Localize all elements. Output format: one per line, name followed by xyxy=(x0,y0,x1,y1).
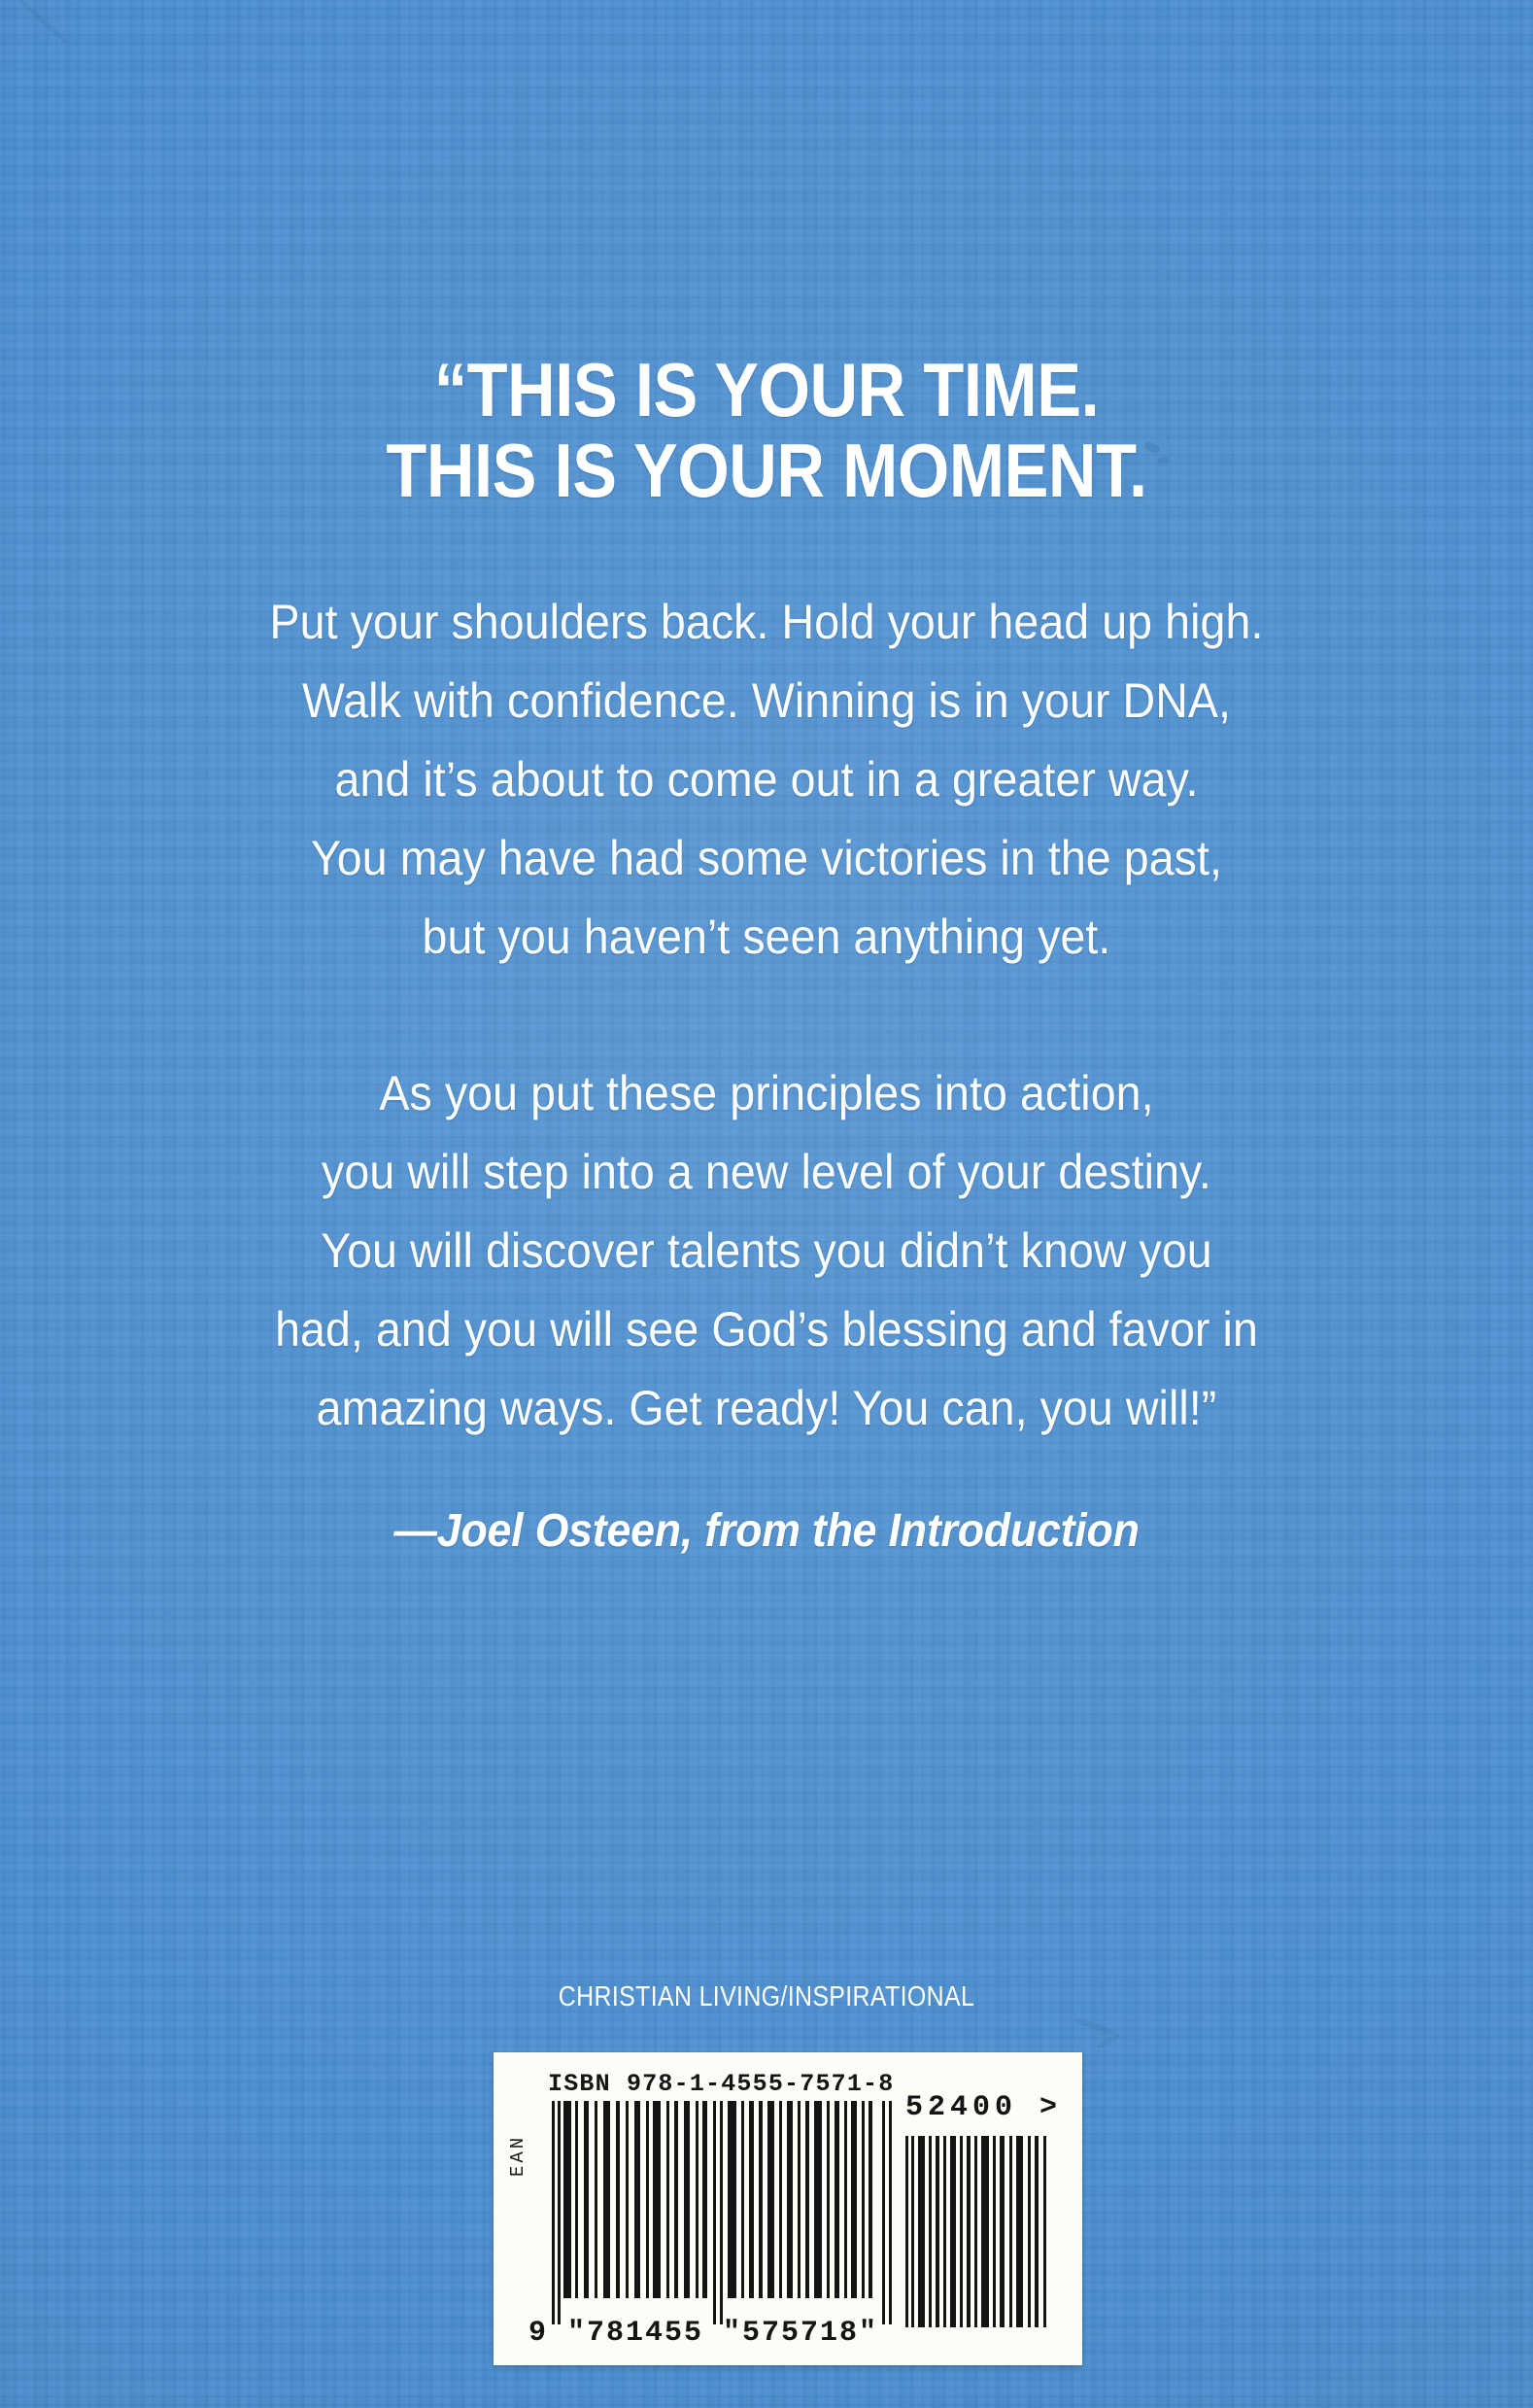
paragraph-1-line-4: You may have had some victories in the p… xyxy=(53,819,1480,898)
ean13-barcode-symbol xyxy=(552,2101,900,2324)
paragraph-2-line-1: As you put these principles into action, xyxy=(53,1054,1480,1133)
book-back-cover: “THIS IS YOUR TIME. THIS IS YOUR MOMENT.… xyxy=(0,0,1533,2408)
paragraph-1-line-2: Walk with confidence. Winning is in your… xyxy=(53,662,1480,740)
quote-paragraph-2: As you put these principles into action,… xyxy=(53,1054,1480,1448)
barcode-block: EAN ISBN 978-1-4555-7571-8 xyxy=(494,2052,1082,2365)
quote-attribution: —Joel Osteen, from the Introduction xyxy=(53,1504,1480,1558)
ean13-human-readable: 9 ″781455 ″575718″ xyxy=(528,2317,917,2350)
price-addon-barcode-symbol xyxy=(905,2136,1049,2327)
paragraph-2-line-5: amazing ways. Get ready! You can, you wi… xyxy=(53,1369,1480,1448)
price-addon-digits: 52400 > xyxy=(905,2091,1062,2124)
pull-quote-headline: “THIS IS YOUR TIME. THIS IS YOUR MOMENT. xyxy=(92,350,1442,510)
headline-line-2: THIS IS YOUR MOMENT. xyxy=(92,430,1442,511)
paragraph-2-line-2: you will step into a new level of your d… xyxy=(53,1133,1480,1212)
headline-line-1: “THIS IS YOUR TIME. xyxy=(92,350,1442,430)
ean-label: EAN xyxy=(507,2135,528,2177)
paragraph-2-line-3: You will discover talents you didn’t kno… xyxy=(53,1212,1480,1290)
isbn-text: ISBN 978-1-4555-7571-8 xyxy=(548,2070,894,2098)
paragraph-2-line-4: had, and you will see God’s blessing and… xyxy=(53,1290,1480,1369)
paragraph-1-line-5: but you haven’t seen anything yet. xyxy=(53,898,1480,977)
quote-paragraph-1: Put your shoulders back. Hold your head … xyxy=(53,583,1480,977)
paragraph-1-line-1: Put your shoulders back. Hold your head … xyxy=(53,583,1480,662)
paragraph-1-line-3: and it’s about to come out in a greater … xyxy=(53,740,1480,819)
bisac-category-label: CHRISTIAN LIVING/INSPIRATIONAL xyxy=(107,1981,1425,2013)
